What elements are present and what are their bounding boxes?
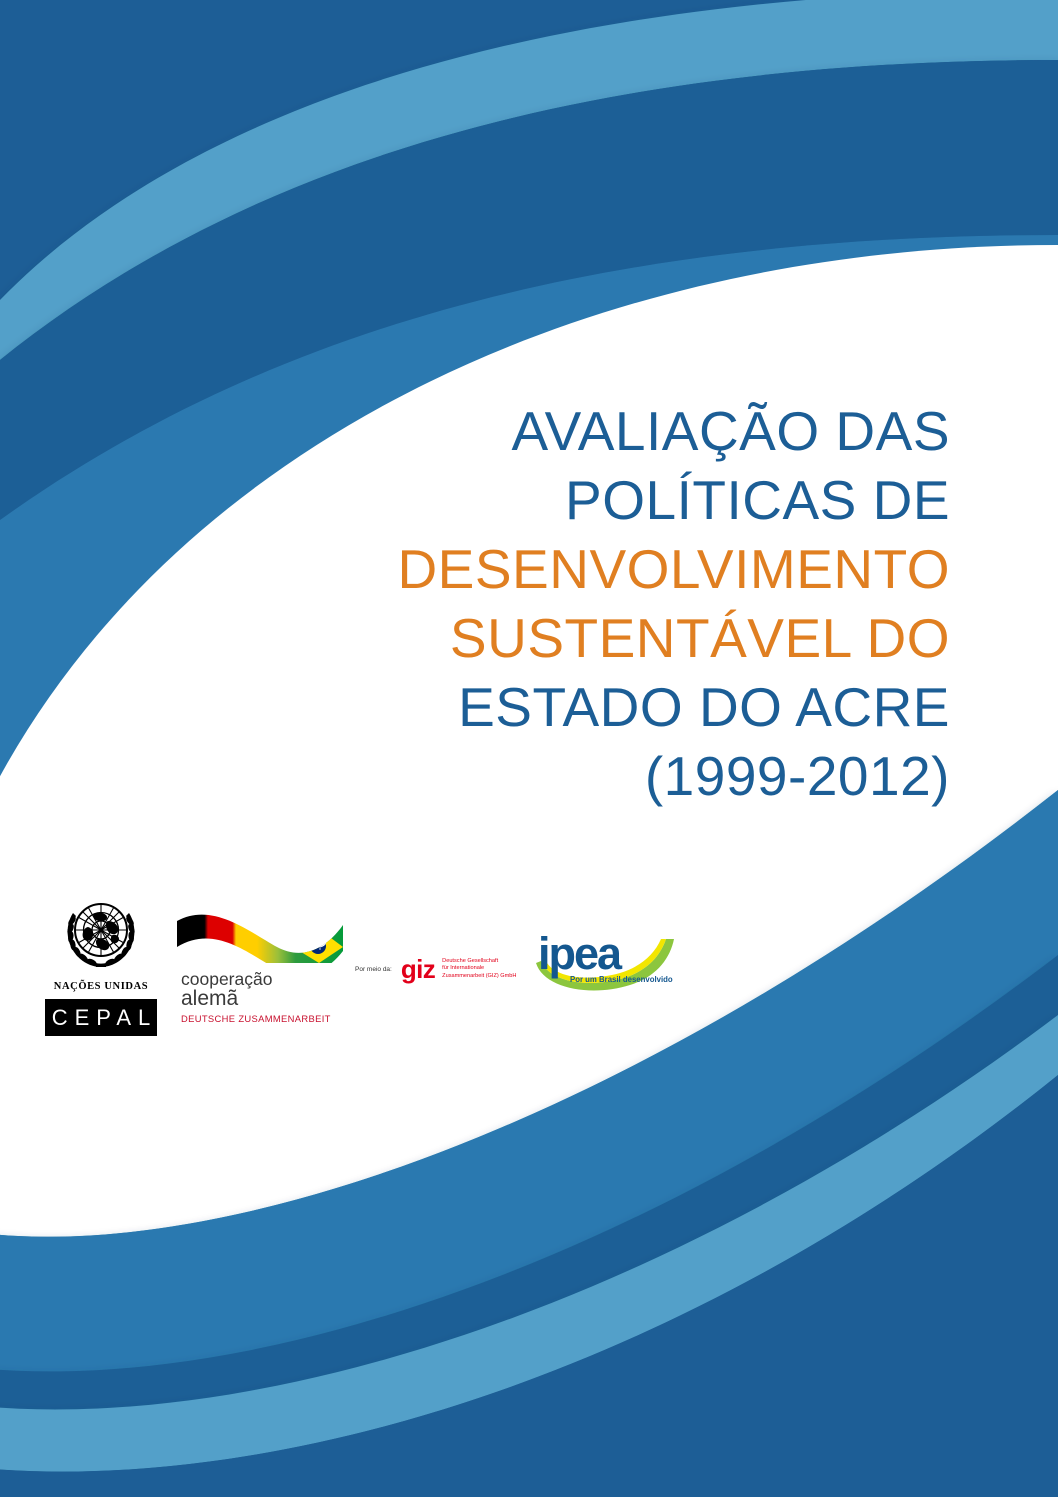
- ipea-logo-wrap: ipea Por um Brasil desenvolvido: [530, 933, 680, 995]
- giz-descriptor-line-1: Deutsche Gesellschaft: [442, 958, 498, 964]
- giz-descriptor-line-2: für Internationale: [442, 965, 484, 971]
- gc-line-cooperacao: cooperação: [181, 970, 358, 988]
- giz-descriptor: Deutsche Gesellschaft für Internationale…: [442, 958, 516, 980]
- title-line-4: SUSTENTÁVEL DO: [380, 611, 950, 666]
- cepal-wordmark: CEPAL: [45, 1005, 158, 1031]
- un-emblem-icon: [45, 897, 157, 978]
- title-line-3: DESENVOLVIMENTO: [380, 542, 950, 597]
- giz-logo-row: Por meio da: giz Deutsche Gesellschaft f…: [355, 956, 530, 982]
- giz-prefix-label: Por meio da:: [355, 966, 392, 973]
- logo-strip: Nações Unidas CEPAL: [45, 893, 725, 1043]
- cepal-logo-box: CEPAL: [45, 999, 157, 1036]
- cover-title: AVALIAÇÃO DAS POLÍTICAS DE DESENVOLVIMEN…: [380, 404, 950, 818]
- ipea-tagline: Por um Brasil desenvolvido: [570, 975, 673, 984]
- un-cepal-logo: Nações Unidas CEPAL: [45, 897, 157, 1036]
- title-line-5: ESTADO DO ACRE: [380, 680, 950, 735]
- giz-wordmark: giz: [401, 956, 435, 982]
- german-cooperation-logo: cooperação alemã DEUTSCHE ZUSAMMENARBEIT: [173, 903, 358, 1024]
- title-line-1: AVALIAÇÃO DAS: [380, 404, 950, 459]
- german-cooperation-text: cooperação alemã DEUTSCHE ZUSAMMENARBEIT: [173, 970, 358, 1024]
- ipea-logo: ipea Por um Brasil desenvolvido: [530, 933, 680, 995]
- title-line-2: POLÍTICAS DE: [380, 473, 950, 528]
- un-emblem-svg: [58, 897, 144, 973]
- report-cover-page: AVALIAÇÃO DAS POLÍTICAS DE DESENVOLVIMEN…: [0, 0, 1058, 1497]
- gc-line-deutsche-zusammenarbeit: DEUTSCHE ZUSAMMENARBEIT: [181, 1013, 358, 1024]
- giz-logo: Por meio da: giz Deutsche Gesellschaft f…: [355, 956, 530, 982]
- giz-descriptor-line-3: Zusammenarbeit (GIZ) GmbH: [442, 973, 516, 979]
- gc-line-alema: alemã: [181, 988, 358, 1010]
- ipea-wordmark: ipea: [538, 931, 620, 976]
- un-caption-label: Nações Unidas: [45, 981, 157, 992]
- title-line-6: (1999-2012): [380, 749, 950, 804]
- german-brazil-flag-ribbon-icon: [173, 903, 348, 963]
